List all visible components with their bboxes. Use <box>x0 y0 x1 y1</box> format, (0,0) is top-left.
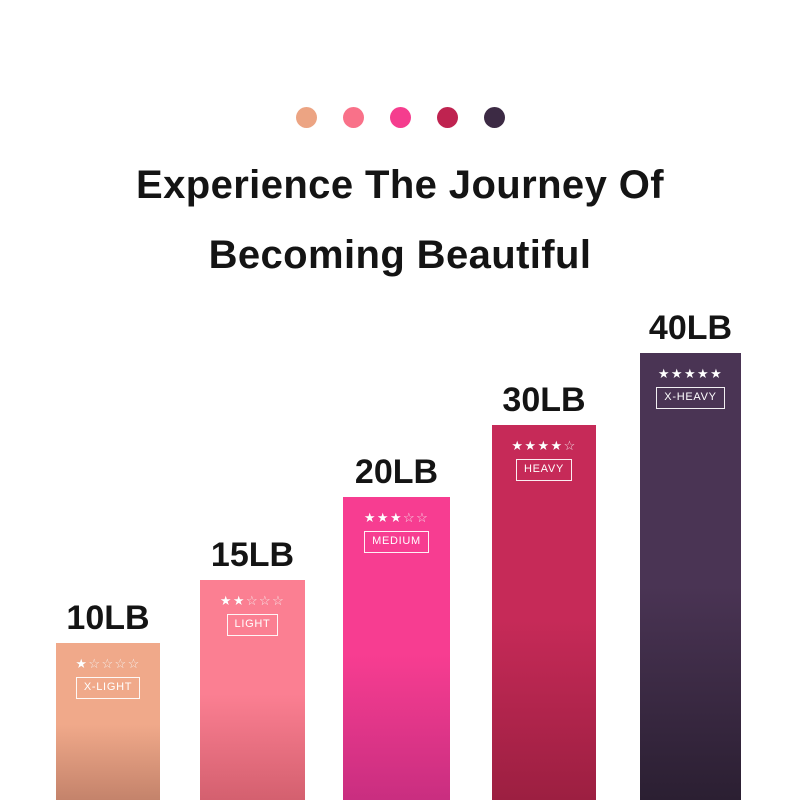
resistance-level-badge: MEDIUM <box>364 531 429 553</box>
bar-fill: ★☆☆☆☆X-LIGHT <box>56 643 160 800</box>
bar-fill: ★★★★☆HEAVY <box>492 425 596 800</box>
star-empty-icon: ☆ <box>259 593 272 608</box>
star-filled-icon: ★ <box>377 510 390 525</box>
star-filled-icon: ★ <box>233 593 246 608</box>
star-empty-icon: ☆ <box>128 656 141 671</box>
bar-weight-label: 40LB <box>649 309 732 347</box>
star-filled-icon: ★ <box>511 438 524 453</box>
star-rating: ★☆☆☆☆ <box>75 657 140 671</box>
resistance-level-badge: LIGHT <box>227 614 279 636</box>
resistance-level-badge: X-HEAVY <box>656 387 724 409</box>
star-filled-icon: ★ <box>220 593 233 608</box>
star-filled-icon: ★ <box>671 366 684 381</box>
star-empty-icon: ☆ <box>272 593 285 608</box>
resistance-level-badge: X-LIGHT <box>76 677 140 699</box>
star-rating: ★★★★★ <box>658 367 723 381</box>
star-filled-icon: ★ <box>551 438 564 453</box>
bar-group-20lb[interactable]: 20LB★★★☆☆MEDIUM <box>343 497 450 800</box>
star-filled-icon: ★ <box>658 366 671 381</box>
product-infographic: Experience The Journey Of Becoming Beaut… <box>0 0 800 800</box>
star-empty-icon: ☆ <box>416 510 429 525</box>
star-empty-icon: ☆ <box>403 510 416 525</box>
star-empty-icon: ☆ <box>88 656 101 671</box>
star-filled-icon: ★ <box>710 366 723 381</box>
star-filled-icon: ★ <box>537 438 550 453</box>
star-filled-icon: ★ <box>390 510 403 525</box>
bar-weight-label: 15LB <box>211 536 294 574</box>
bar-group-10lb[interactable]: 10LB★☆☆☆☆X-LIGHT <box>56 643 160 800</box>
star-empty-icon: ☆ <box>564 438 577 453</box>
star-empty-icon: ☆ <box>246 593 259 608</box>
bar-weight-label: 20LB <box>355 453 438 491</box>
star-filled-icon: ★ <box>364 510 377 525</box>
bar-fill: ★★★★★X-HEAVY <box>640 353 741 800</box>
star-filled-icon: ★ <box>697 366 710 381</box>
star-filled-icon: ★ <box>684 366 697 381</box>
bar-group-30lb[interactable]: 30LB★★★★☆HEAVY <box>492 425 596 800</box>
bar-fill: ★★★☆☆MEDIUM <box>343 497 450 800</box>
star-empty-icon: ☆ <box>115 656 128 671</box>
star-rating: ★★☆☆☆ <box>220 594 285 608</box>
resistance-level-badge: HEAVY <box>516 459 572 481</box>
star-empty-icon: ☆ <box>101 656 114 671</box>
star-rating: ★★★★☆ <box>511 439 576 453</box>
bar-group-15lb[interactable]: 15LB★★☆☆☆LIGHT <box>200 580 305 800</box>
bar-group-40lb[interactable]: 40LB★★★★★X-HEAVY <box>640 353 741 800</box>
star-filled-icon: ★ <box>524 438 537 453</box>
bar-fill: ★★☆☆☆LIGHT <box>200 580 305 800</box>
star-filled-icon: ★ <box>75 656 88 671</box>
bar-weight-label: 10LB <box>66 599 149 637</box>
resistance-bar-chart: 10LB★☆☆☆☆X-LIGHT15LB★★☆☆☆LIGHT20LB★★★☆☆M… <box>0 0 800 800</box>
star-rating: ★★★☆☆ <box>364 511 429 525</box>
bar-weight-label: 30LB <box>502 381 585 419</box>
